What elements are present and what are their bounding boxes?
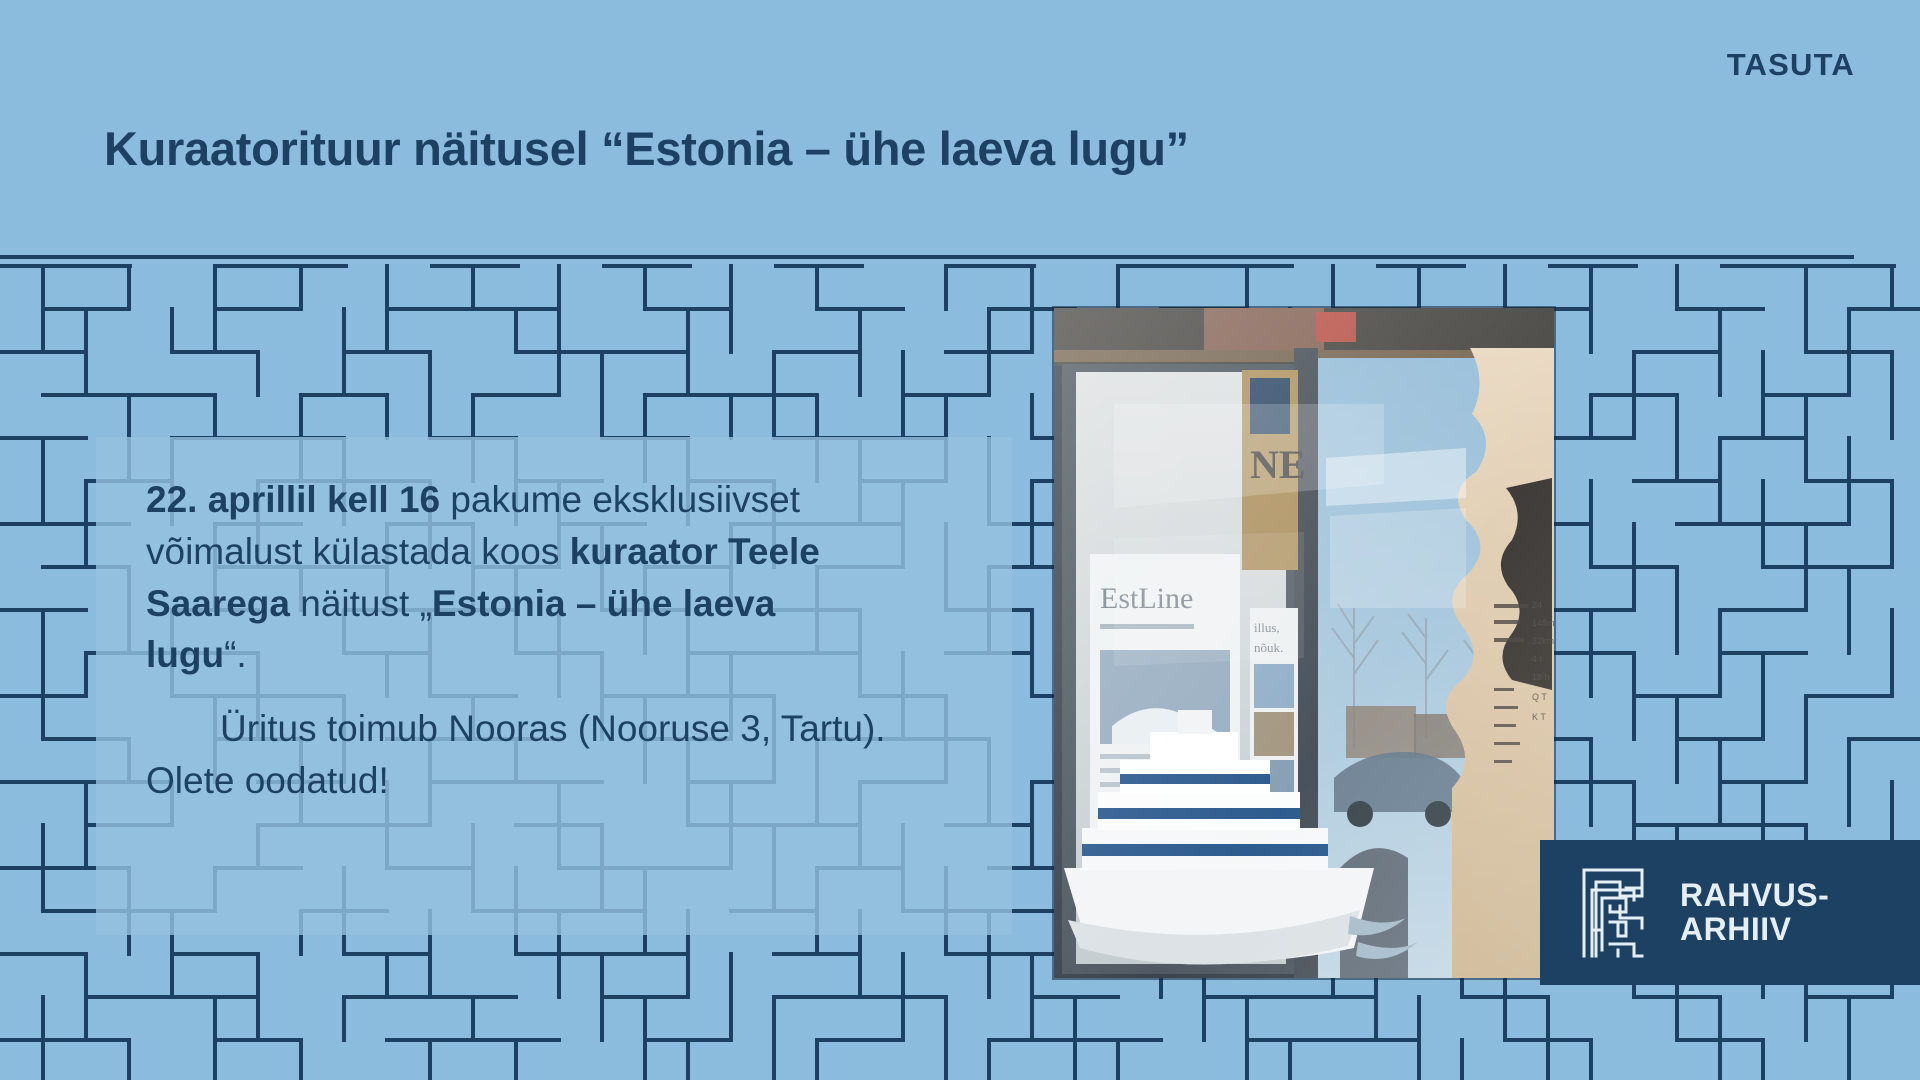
poster-canvas: 22. aprillil kell 16 pakume eksklusiivse… [0,0,1920,1080]
maze-r-logo-icon [1580,866,1656,960]
logo-line-2: ARHIIV [1680,913,1829,947]
p1-plain-2: näitust „ [290,583,432,624]
logo-line-1: RAHVUS- [1680,879,1829,913]
page-title: Kuraatorituur näitusel “Estonia – ühe la… [104,121,1189,176]
date-time-bold: 22. aprillil kell 16 [146,479,440,520]
p1-plain-3: “. [224,634,247,675]
paragraph-2-venue: Üritus toimub Nooras (Nooruse 3, Tartu).… [146,703,886,807]
exhibition-photo: EstLine NE illus, nõuk. [1054,308,1554,978]
header-band: TASUTA Kuraatorituur näitusel “Estonia –… [0,0,1920,256]
header-divider [0,255,1854,259]
body-copy: 22. aprillil kell 16 pakume eksklusiivse… [146,474,886,807]
free-admission-badge: TASUTA [1727,47,1855,83]
paragraph-1: 22. aprillil kell 16 pakume eksklusiivse… [146,479,820,675]
logo-wordmark: RAHVUS- ARHIIV [1680,879,1829,947]
rahvusarhiiv-logo-plate[interactable]: RAHVUS- ARHIIV [1540,840,1920,985]
